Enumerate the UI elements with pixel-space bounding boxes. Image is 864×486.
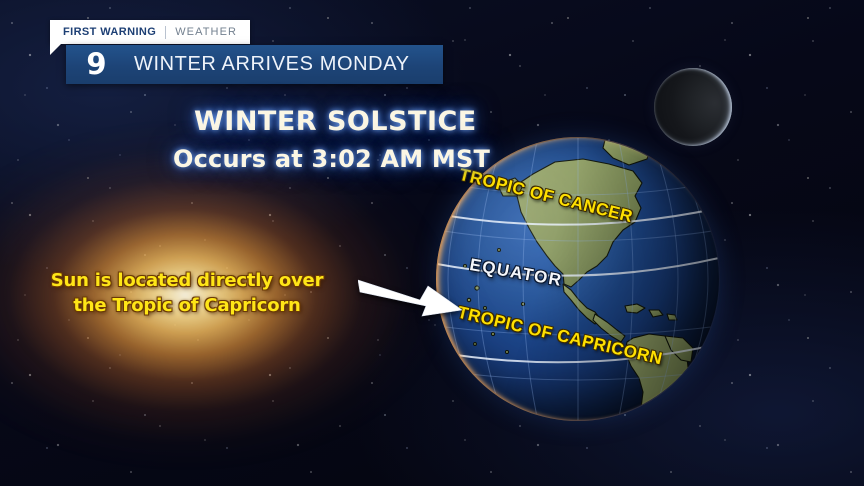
solstice-time: Occurs at 3:02 AM MST xyxy=(0,145,864,173)
globe-terminator-shading xyxy=(437,138,719,420)
sun-note-line-1: Sun is located directly over xyxy=(51,270,324,291)
brand-weather: WEATHER xyxy=(175,26,237,38)
channel-9-logo: 9 xyxy=(72,50,120,79)
weather-graphic-stage: TROPIC OF CANCER EQUATOR TROPIC OF CAPRI… xyxy=(0,0,864,486)
sun-note-line-2: the Tropic of Capricorn xyxy=(0,293,374,318)
headline-banner: 9 WINTER ARRIVES MONDAY xyxy=(66,45,443,84)
earth-globe: TROPIC OF CANCER EQUATOR TROPIC OF CAPRI… xyxy=(437,138,719,420)
brand-first-warning: FIRST WARNING xyxy=(63,26,156,38)
sun-glow xyxy=(0,95,490,486)
banner-headline: WINTER ARRIVES MONDAY xyxy=(134,53,410,76)
page-title: WINTER SOLSTICE xyxy=(0,106,864,137)
globe-sphere xyxy=(437,138,719,420)
sun-position-annotation: Sun is located directly over the Tropic … xyxy=(0,268,374,318)
station-brand-tab: FIRST WARNING WEATHER xyxy=(50,20,250,44)
brand-tab-tail xyxy=(50,44,61,55)
moon-icon xyxy=(654,68,732,146)
brand-divider xyxy=(165,26,166,39)
